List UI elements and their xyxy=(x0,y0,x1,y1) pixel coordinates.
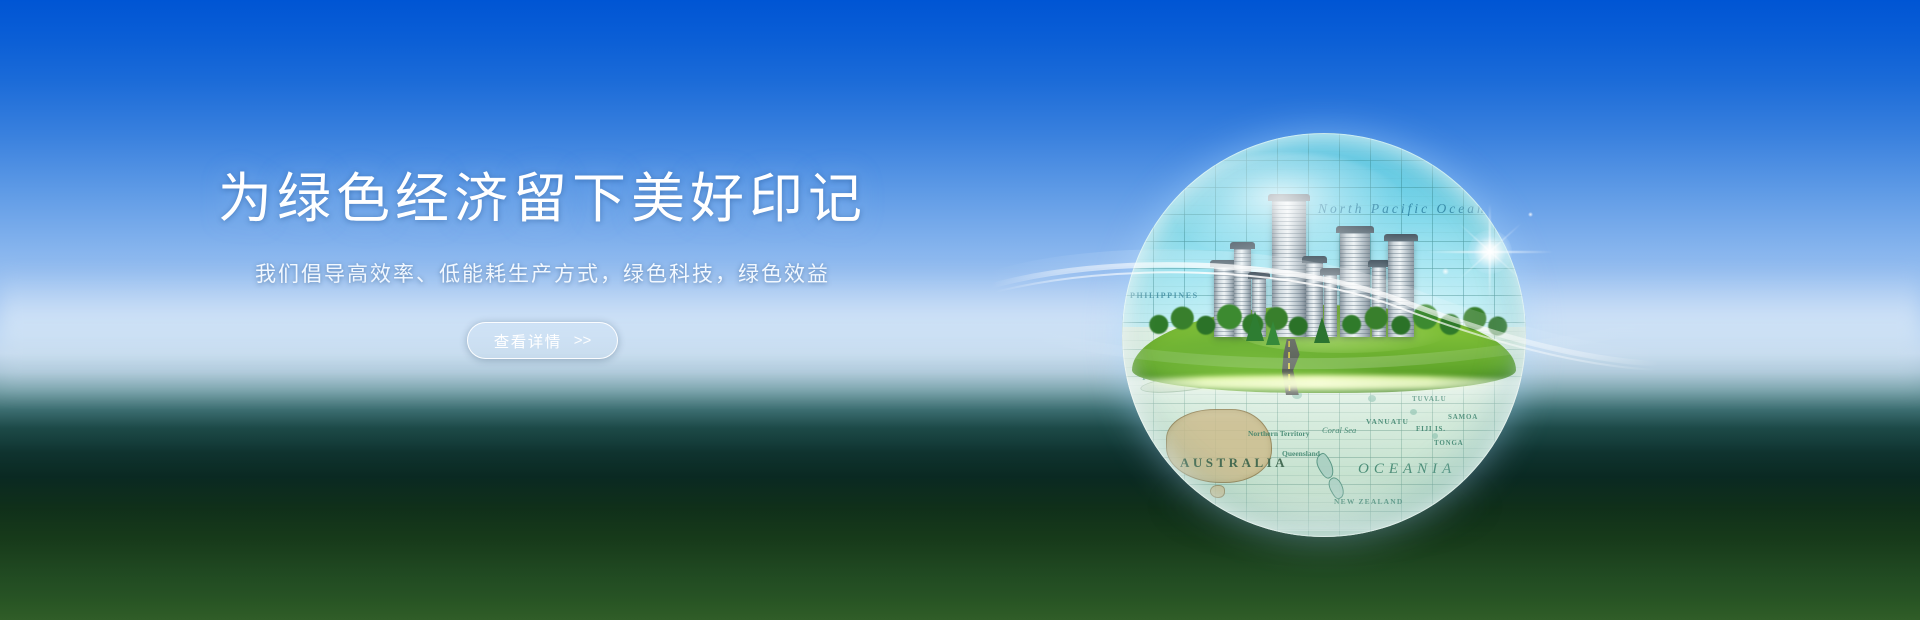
page-title: 为绿色经济留下美好印记 xyxy=(0,170,1085,228)
green-island-scene xyxy=(1122,283,1526,395)
page-subtitle: 我们倡导高效率、低能耗生产方式，绿色科技，绿色效益 xyxy=(0,258,1085,288)
cta-container: 查看详情 >> xyxy=(0,322,1085,359)
conifer-tree xyxy=(1314,317,1330,343)
grass-edge-glow xyxy=(1138,375,1510,389)
tree-line-left xyxy=(1142,295,1310,337)
globe-sphere: North Pacific Ocean Wake Island OCEANIA … xyxy=(1122,133,1526,537)
glass-globe: North Pacific Ocean Wake Island OCEANIA … xyxy=(1122,133,1526,537)
conifer-tree xyxy=(1266,321,1280,345)
conifer-tree xyxy=(1246,311,1264,341)
view-details-label: 查看详情 xyxy=(494,330,562,352)
background-bottom-vignette xyxy=(0,440,1920,620)
view-details-button[interactable]: 查看详情 >> xyxy=(467,322,619,359)
hero-banner: North Pacific Ocean Wake Island OCEANIA … xyxy=(0,0,1920,620)
tree-line-right xyxy=(1334,295,1510,337)
hero-copy-block: 为绿色经济留下美好印记 我们倡导高效率、低能耗生产方式，绿色科技，绿色效益 查看… xyxy=(0,170,1085,359)
chevron-right-icon: >> xyxy=(574,332,592,349)
